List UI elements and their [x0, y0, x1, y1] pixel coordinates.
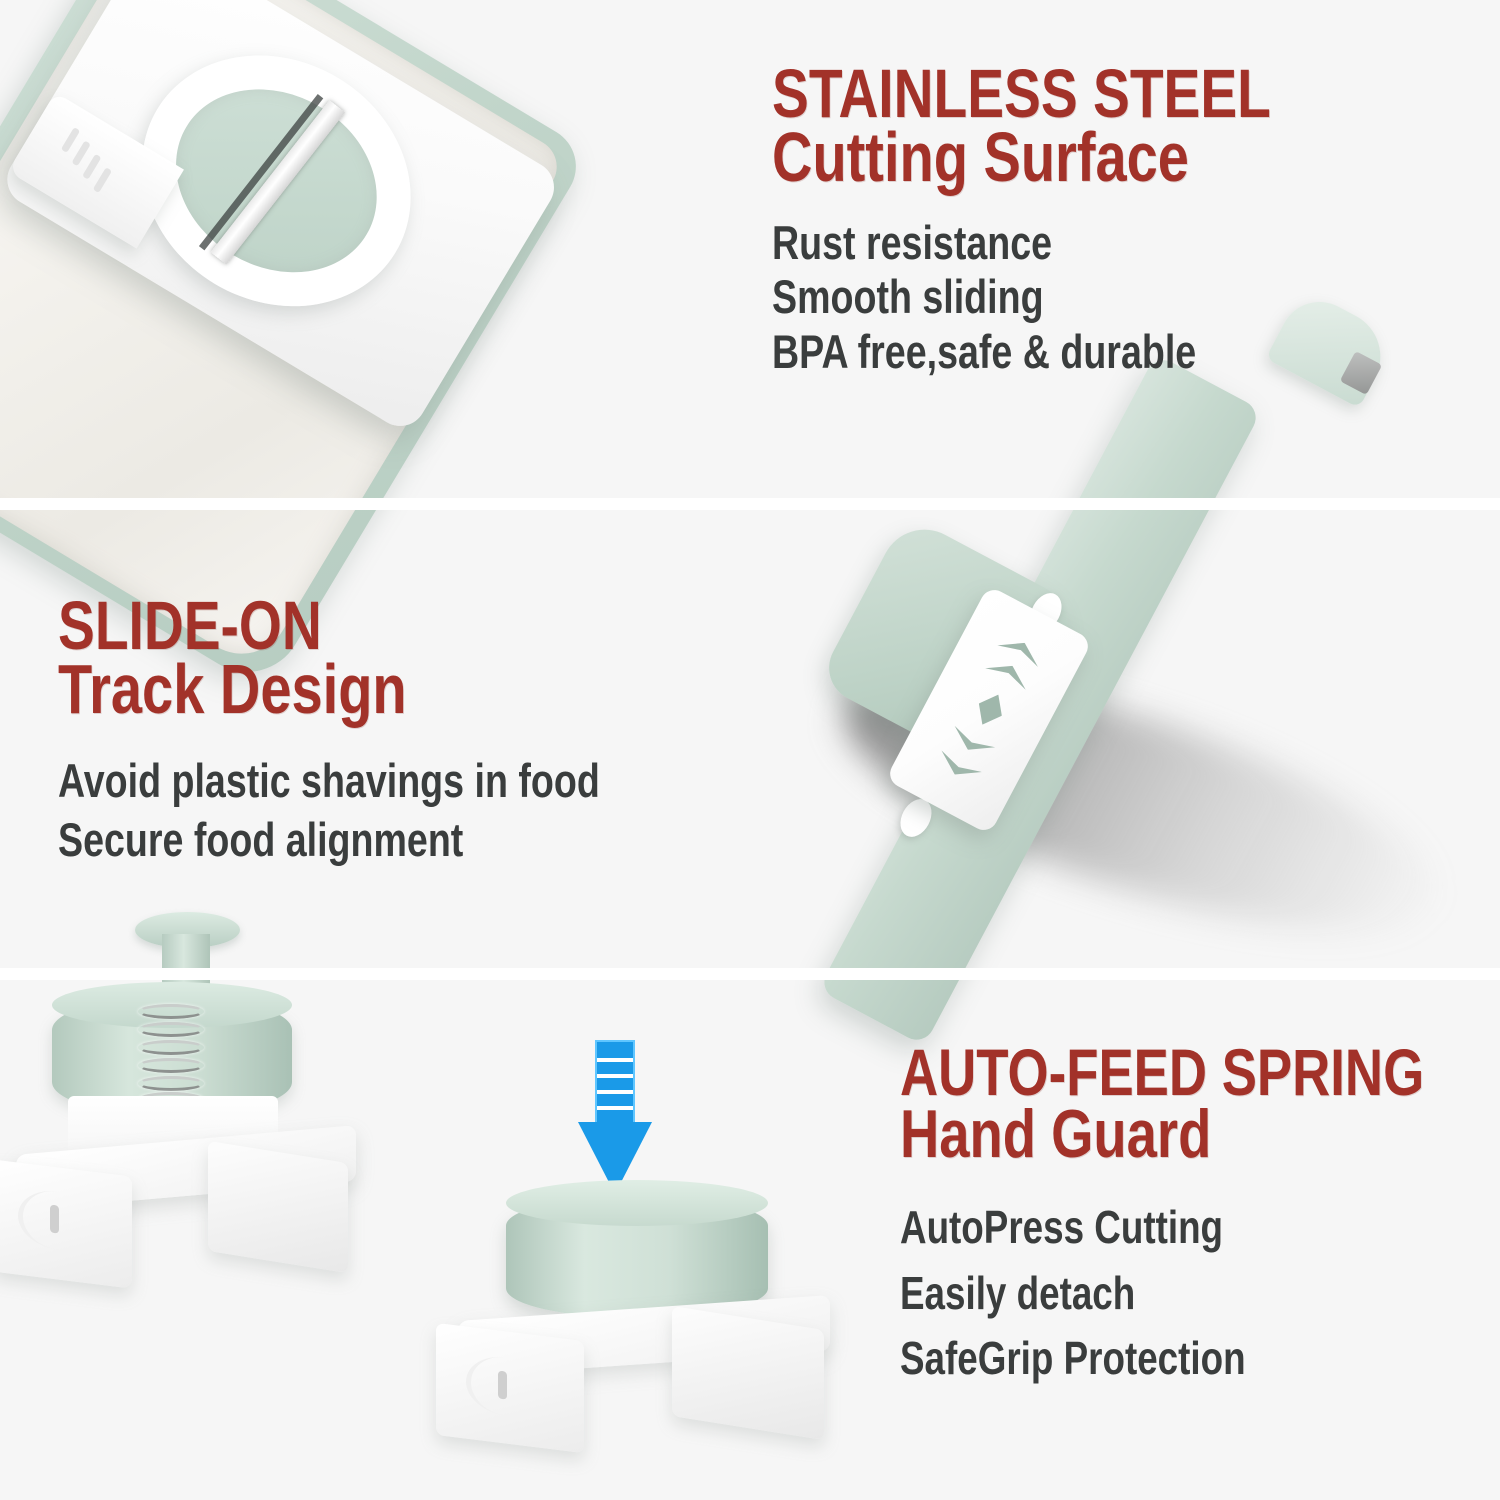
hand-guard-extended-image [0, 900, 410, 1340]
down-arrow-icon [578, 1042, 652, 1192]
wing-slot-detail [498, 1371, 507, 1400]
section-divider [0, 498, 1500, 510]
pressed-wing-left [436, 1323, 584, 1453]
feature-headline-top: STAINLESS STEEL [772, 62, 1271, 125]
chevron-icon [985, 655, 1033, 690]
feature-bullet: Smooth sliding [772, 270, 1271, 325]
feature-bullet: Secure food alignment [58, 811, 600, 870]
section-divider [0, 968, 1500, 980]
feature-block-auto-feed-spring: AUTO-FEED SPRING Hand Guard AutoPress Cu… [900, 1042, 1500, 1391]
hand-guard-pressed-image [430, 1020, 860, 1470]
feature-bullet: Rust resistance [772, 216, 1271, 271]
arrow-shaft [597, 1042, 633, 1128]
feature-bullet-list: AutoPress Cutting Easily detach SafeGrip… [900, 1195, 1500, 1391]
chevron-icon [997, 632, 1045, 667]
feature-headline-top: AUTO-FEED SPRING [900, 1042, 1424, 1103]
feature-bullet: Easily detach [900, 1261, 1424, 1326]
cutting-blade [211, 100, 345, 264]
wing-slot-detail [50, 1205, 59, 1234]
feature-bullet: Avoid plastic shavings in food [58, 752, 600, 811]
feature-bullet: AutoPress Cutting [900, 1195, 1424, 1260]
chevron-icon [948, 726, 996, 761]
guard-wing-right [208, 1141, 348, 1273]
chevron-icon [934, 750, 982, 785]
feature-headline-bottom: Cutting Surface [772, 125, 1271, 189]
blade-shadow [199, 94, 323, 250]
feature-bullet-list: Rust resistance Smooth sliding BPA free,… [772, 216, 1396, 380]
feature-bullet-list: Avoid plastic shavings in food Secure fo… [58, 752, 735, 870]
guard-wing-left [0, 1159, 132, 1288]
feature-bullet: SafeGrip Protection [900, 1326, 1424, 1391]
feature-block-slide-on-track: SLIDE-ON Track Design Avoid plastic shav… [58, 594, 735, 869]
feature-headline-top: SLIDE-ON [58, 594, 600, 657]
feature-headline-bottom: Track Design [58, 657, 600, 721]
feature-bullet: BPA free,safe & durable [772, 325, 1271, 380]
pressed-cylinder-top [506, 1180, 768, 1226]
auto-feed-spring [138, 1004, 198, 1100]
pressed-wing-right [672, 1306, 824, 1440]
diagonal-slicer-image [680, 300, 1500, 1120]
infographic-canvas: STAINLESS STEEL Cutting Surface Rust res… [0, 0, 1500, 1500]
feature-headline-bottom: Hand Guard [900, 1103, 1424, 1166]
feature-block-stainless-steel: STAINLESS STEEL Cutting Surface Rust res… [772, 62, 1396, 379]
diamond-icon [971, 688, 1010, 730]
